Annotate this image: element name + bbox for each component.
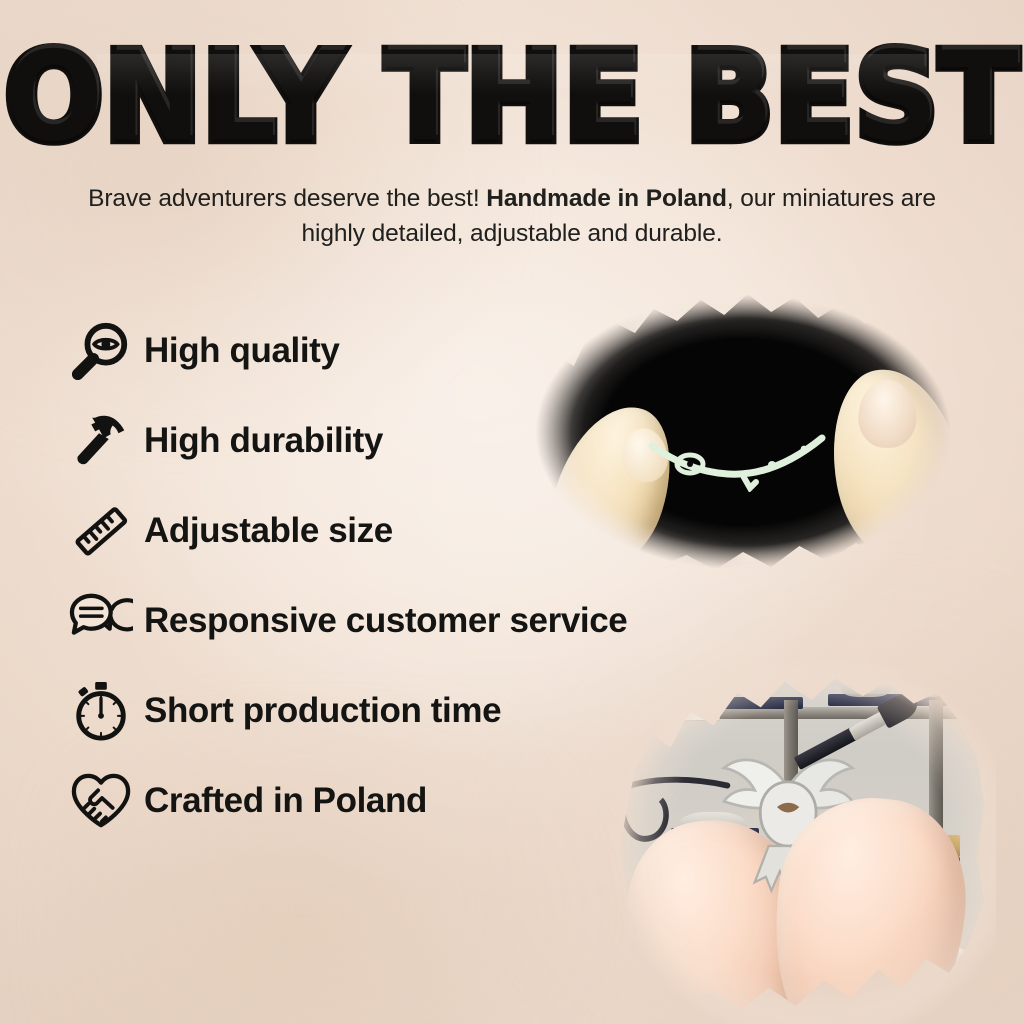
page-title: ONLY THE BEST <box>4 37 1019 160</box>
workshop-backdrop <box>604 660 996 1024</box>
feature-item-responsive-customer-service: Responsive customer service <box>58 576 758 666</box>
feature-label: Crafted in Poland <box>144 781 427 821</box>
feature-label: Adjustable size <box>144 511 393 551</box>
miniature-cluster <box>903 681 947 697</box>
headline-area: ONLY THE BEST <box>0 40 1024 156</box>
stopwatch-icon <box>58 675 144 747</box>
feature-label: Responsive customer service <box>144 601 627 641</box>
feature-label: High quality <box>144 331 339 371</box>
hammer-icon <box>58 405 144 477</box>
magnifier-eye-icon <box>58 315 144 387</box>
subtitle-lead: Brave adventurers deserve the best! <box>88 185 479 212</box>
fingernail <box>858 380 916 448</box>
subtitle-emphasis: Handmade in Poland <box>486 185 727 212</box>
speech-bubbles-icon <box>58 585 144 657</box>
heart-handshake-icon <box>58 765 144 837</box>
feature-label: Short production time <box>144 691 501 731</box>
miniature-cluster <box>703 681 734 697</box>
feature-label: High durability <box>144 421 383 461</box>
painting-workshop-photo <box>604 660 996 1024</box>
shelf-label-card <box>684 694 720 722</box>
subtitle: Brave adventurers deserve the best! Hand… <box>78 182 946 252</box>
resin-miniature-part <box>646 432 846 492</box>
product-feature-poster: ONLY THE BEST Brave adventurers deserve … <box>0 0 1024 1024</box>
ruler-icon <box>58 495 144 567</box>
flexing-miniature-photo <box>508 282 978 582</box>
